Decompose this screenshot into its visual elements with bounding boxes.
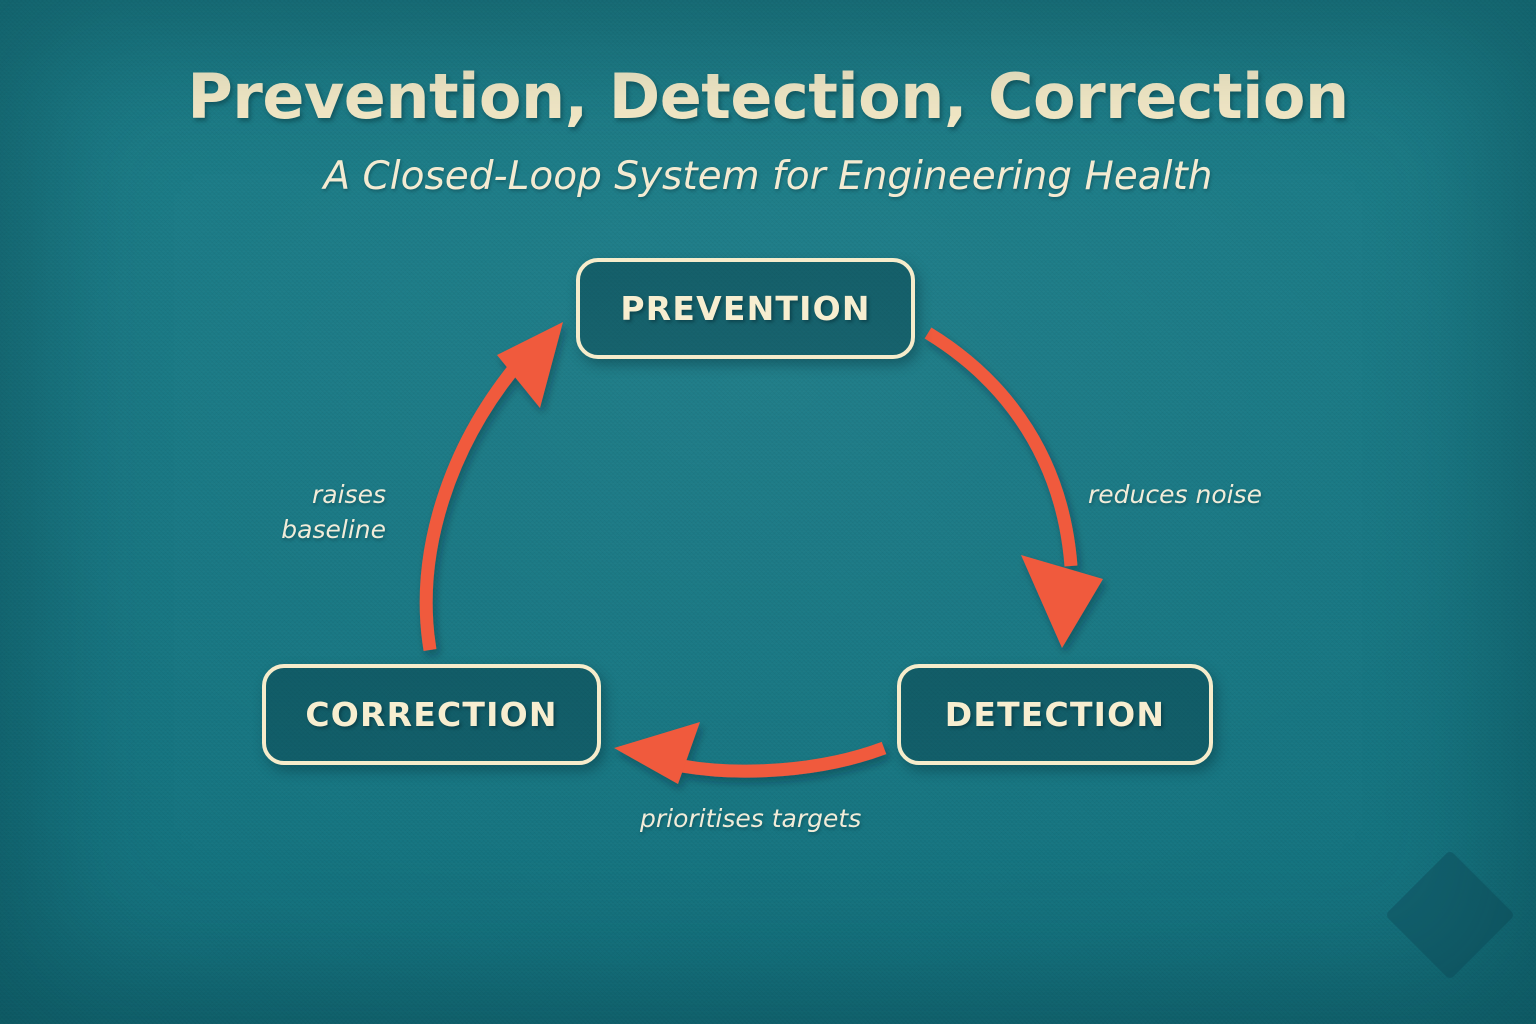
decorative-diamond-shape <box>1385 850 1515 980</box>
edge-label-raises-baseline: raises baseline <box>216 478 386 547</box>
edge-label-reduces-noise: reduces noise <box>1088 478 1262 513</box>
node-correction[interactable]: CORRECTION <box>262 664 601 765</box>
page-subtitle: A Closed-Loop System for Engineering Hea… <box>0 154 1536 199</box>
node-detection-label: DETECTION <box>945 695 1165 734</box>
node-prevention[interactable]: PREVENTION <box>576 258 915 359</box>
arrow-detection-to-correction <box>614 722 884 784</box>
node-prevention-label: PREVENTION <box>620 289 870 328</box>
node-detection[interactable]: DETECTION <box>897 664 1213 765</box>
arrow-prevention-to-detection <box>928 333 1103 648</box>
node-correction-label: CORRECTION <box>305 695 557 734</box>
page-title: Prevention, Detection, Correction <box>0 60 1536 133</box>
arrow-correction-to-prevention <box>426 322 563 650</box>
edge-label-prioritises-targets: prioritises targets <box>640 802 861 837</box>
diagram-canvas: Prevention, Detection, Correction A Clos… <box>0 0 1536 1024</box>
